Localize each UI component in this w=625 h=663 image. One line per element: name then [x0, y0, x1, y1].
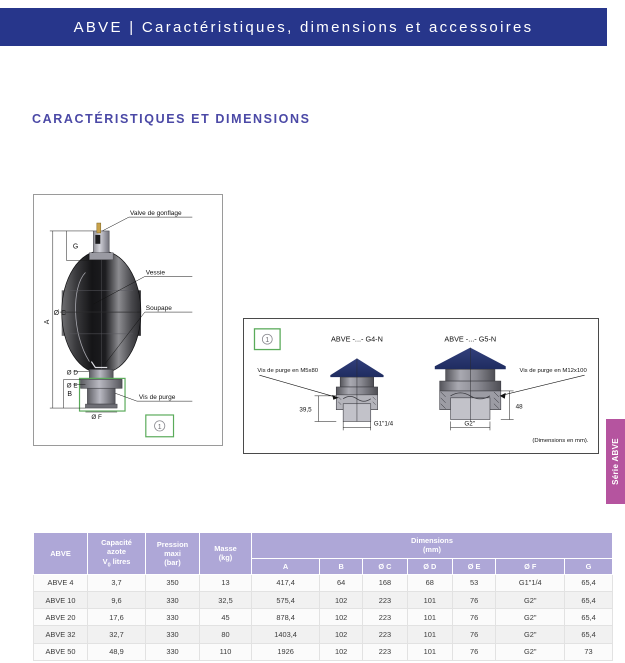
page-banner: ABVE | Caractéristiques, dimensions et a…	[0, 8, 607, 46]
table-row: ABVE 10 9,6 330 32,5 575,4 102 223 101 7…	[34, 591, 613, 608]
cell-dim-e: 76	[452, 643, 496, 660]
cell-dim-g: 65,4	[565, 574, 613, 591]
header-dimensions-unit: (mm)	[423, 545, 441, 554]
header-dim-dia-f: Ø F	[496, 558, 565, 574]
cell-model: ABVE 50	[34, 643, 88, 660]
cell-model: ABVE 20	[34, 609, 88, 626]
header-dim-dia-e: Ø E	[452, 558, 496, 574]
cell-dim-g: 65,4	[565, 609, 613, 626]
dim-height-g5n: 48	[516, 404, 524, 411]
cell-dim-g: 73	[565, 643, 613, 660]
dim-label-a: A	[44, 319, 51, 324]
callout-inflation-valve: Valve de gonflage	[130, 210, 182, 217]
header-dimensions-label: Dimensions	[411, 536, 453, 545]
cell-model: ABVE 32	[34, 626, 88, 643]
cell-model: ABVE 10	[34, 591, 88, 608]
cell-pressure: 330	[146, 609, 200, 626]
cell-pressure: 350	[146, 574, 200, 591]
port-variants-svg: 1 ABVE -...- G4-N Vis de purge en M5x80	[244, 319, 598, 453]
cell-dim-a: 575,4	[252, 591, 320, 608]
dimensions-unit-footnote: (Dimensions en mm).	[532, 438, 588, 444]
table-row: ABVE 20 17,6 330 45 878,4 102 223 101 76…	[34, 609, 613, 626]
cell-dim-f: G2"	[496, 591, 565, 608]
cell-dim-d: 101	[407, 591, 452, 608]
cell-dim-b: 102	[320, 626, 363, 643]
callout-bleed-screw: Vis de purge	[139, 394, 176, 401]
header-pressure-line3: (bar)	[164, 558, 180, 567]
cell-dim-a: 878,4	[252, 609, 320, 626]
cell-mass: 80	[200, 626, 252, 643]
series-side-tab[interactable]: Série ABVE	[606, 419, 625, 504]
table-header-row-1: ABVE Capacité azote V0 litres Pression m…	[34, 533, 613, 559]
cell-dim-g: 65,4	[565, 626, 613, 643]
section-title: CARACTÉRISTIQUES ET DIMENSIONS	[32, 112, 311, 126]
table-row: ABVE 4 3,7 350 13 417,4 64 168 68 53 G1"…	[34, 574, 613, 591]
callout-poppet: Soupape	[146, 305, 172, 312]
cell-dim-e: 53	[452, 574, 496, 591]
gas-valve-assembly	[89, 223, 113, 260]
accumulator-cutaway-svg: A G B Ø C Ø D Ø E Ø F Valve de gonflage …	[34, 195, 222, 445]
dim-label-b: B	[67, 391, 72, 398]
header-dim-g: G	[565, 558, 613, 574]
header-capacity: Capacité azote V0 litres	[88, 533, 146, 575]
specifications-table: ABVE Capacité azote V0 litres Pression m…	[33, 532, 613, 661]
cell-dim-d: 101	[407, 609, 452, 626]
header-pressure-line1: Pression	[157, 540, 188, 549]
dim-thread-g4n: G1"1/4	[374, 420, 394, 427]
header-dim-dia-d: Ø D	[407, 558, 452, 574]
port-variants-figure: 1 ABVE -...- G4-N Vis de purge en M5x80	[243, 318, 599, 454]
cell-capacity: 3,7	[88, 574, 146, 591]
cell-dim-d: 68	[407, 574, 452, 591]
cell-dim-c: 223	[363, 643, 408, 660]
cell-capacity: 48,9	[88, 643, 146, 660]
cell-capacity: 17,6	[88, 609, 146, 626]
dim-thread-g5n: G2"	[464, 420, 475, 427]
figure-right-badge-number: 1	[265, 337, 269, 344]
cell-dim-f: G2"	[496, 626, 565, 643]
header-pressure: Pression maxi (bar)	[146, 533, 200, 575]
cell-dim-b: 102	[320, 591, 363, 608]
dim-label-g: G	[73, 244, 78, 251]
variant-title-g4n: ABVE -...- G4-N	[331, 335, 383, 344]
header-dim-dia-c: Ø C	[363, 558, 408, 574]
figure-right-badge: 1	[254, 329, 280, 350]
cell-dim-a: 1403,4	[252, 626, 320, 643]
table-row: ABVE 32 32,7 330 80 1403,4 102 223 101 7…	[34, 626, 613, 643]
cell-model: ABVE 4	[34, 574, 88, 591]
series-side-tab-label: Série ABVE	[611, 438, 620, 485]
header-mass-line2: (kg)	[219, 553, 233, 562]
bleed-note-g4n: Vis de purge en M5x80	[257, 368, 318, 374]
leader-g4n	[259, 375, 338, 398]
cell-dim-g: 65,4	[565, 591, 613, 608]
cell-pressure: 330	[146, 643, 200, 660]
header-dim-a: A	[252, 558, 320, 574]
accumulator-cutaway-figure: A G B Ø C Ø D Ø E Ø F Valve de gonflage …	[33, 194, 223, 446]
header-model: ABVE	[34, 533, 88, 575]
cell-dim-b: 64	[320, 574, 363, 591]
cell-capacity: 9,6	[88, 591, 146, 608]
cell-dim-f: G2"	[496, 643, 565, 660]
cell-pressure: 330	[146, 626, 200, 643]
cell-dim-d: 101	[407, 626, 452, 643]
dim-label-dia-e: Ø E	[67, 382, 78, 389]
port-drawing-g4n	[330, 358, 383, 421]
banner-title: ABVE | Caractéristiques, dimensions et a…	[74, 19, 534, 36]
bleed-note-g5n: Vis de purge en M12x100	[520, 368, 588, 374]
callout-bladder: Vessie	[146, 269, 166, 276]
dim-label-dia-d: Ø D	[67, 369, 79, 376]
header-mass-line1: Masse	[214, 544, 237, 553]
header-capacity-line2: azote	[107, 547, 126, 556]
dim-label-dia-f: Ø F	[91, 414, 102, 421]
cell-dim-c: 223	[363, 626, 408, 643]
cell-mass: 32,5	[200, 591, 252, 608]
cell-dim-f: G1"1/4	[496, 574, 565, 591]
header-capacity-line1: Capacité	[101, 538, 132, 547]
cell-dim-c: 168	[363, 574, 408, 591]
figure-left-badge-number: 1	[158, 424, 162, 431]
cell-dim-b: 102	[320, 643, 363, 660]
header-capacity-line3-post: litres	[111, 557, 131, 566]
dim-label-dia-c: Ø C	[54, 310, 66, 317]
cell-mass: 45	[200, 609, 252, 626]
header-dim-b: B	[320, 558, 363, 574]
cell-dim-d: 101	[407, 643, 452, 660]
port-drawing-g5n	[435, 348, 506, 422]
figure-left-badge: 1	[146, 415, 174, 437]
cell-dim-a: 1926	[252, 643, 320, 660]
cell-dim-e: 76	[452, 591, 496, 608]
cell-dim-c: 223	[363, 609, 408, 626]
dim-height-g4n: 39,5	[299, 407, 312, 414]
cell-dim-a: 417,4	[252, 574, 320, 591]
header-mass: Masse (kg)	[200, 533, 252, 575]
cell-pressure: 330	[146, 591, 200, 608]
table-row: ABVE 50 48,9 330 110 1926 102 223 101 76…	[34, 643, 613, 660]
cell-mass: 110	[200, 643, 252, 660]
header-dimensions-group: Dimensions (mm)	[252, 533, 613, 559]
cell-dim-e: 76	[452, 626, 496, 643]
cell-dim-c: 223	[363, 591, 408, 608]
variant-title-g5n: ABVE -...- G5-N	[444, 335, 496, 344]
cell-dim-b: 102	[320, 609, 363, 626]
cell-capacity: 32,7	[88, 626, 146, 643]
cell-dim-f: G2"	[496, 609, 565, 626]
header-pressure-line2: maxi	[164, 549, 181, 558]
leader-g5n	[500, 375, 585, 396]
cell-mass: 13	[200, 574, 252, 591]
table-body: ABVE 4 3,7 350 13 417,4 64 168 68 53 G1"…	[34, 574, 613, 660]
cell-dim-e: 76	[452, 609, 496, 626]
